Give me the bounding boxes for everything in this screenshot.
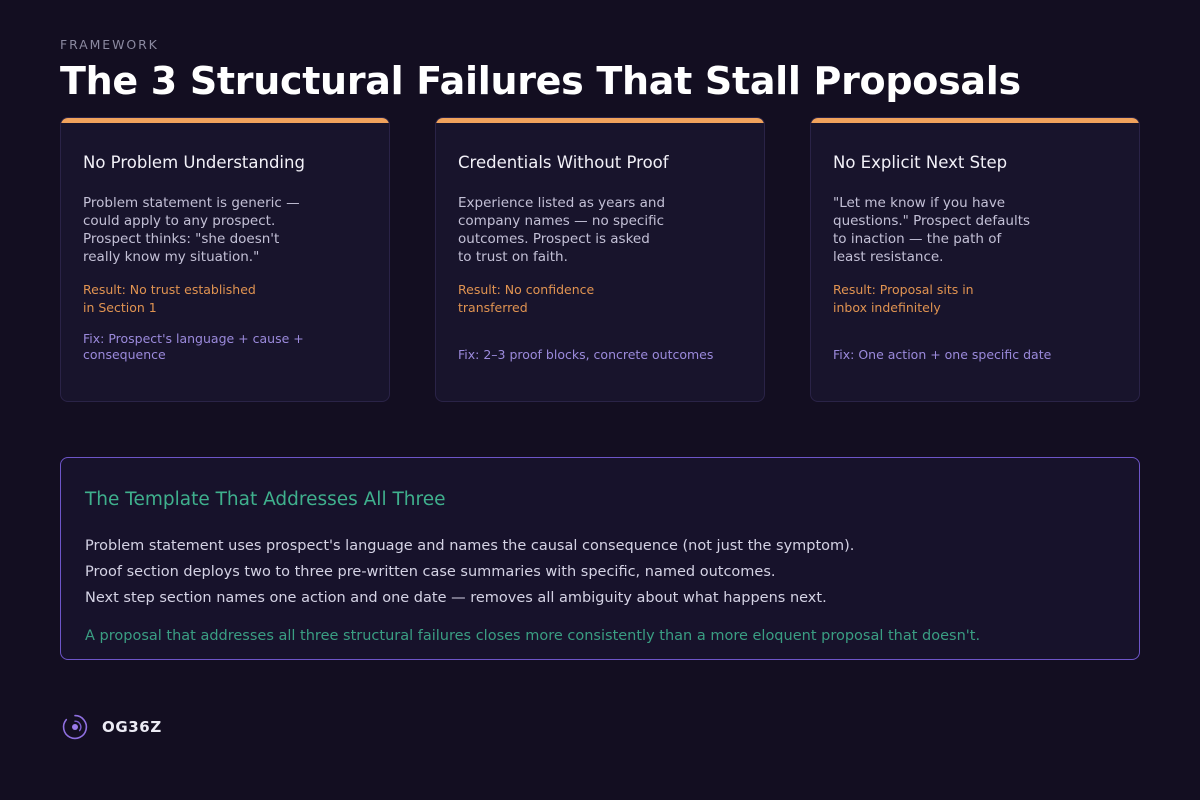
- card-result-line: Result: Proposal sits in: [833, 281, 1117, 299]
- failure-card: No Problem Understanding Problem stateme…: [60, 117, 390, 402]
- card-body-line: could apply to any prospect.: [83, 212, 367, 230]
- card-body-line: outcomes. Prospect is asked: [458, 230, 742, 248]
- brand-name: OG36Z: [102, 718, 162, 736]
- slide-root: FRAMEWORK The 3 Structural Failures That…: [0, 0, 1200, 800]
- template-panel: The Template That Addresses All Three Pr…: [60, 457, 1140, 660]
- card-body-line: really know my situation.": [83, 248, 367, 266]
- panel-line: Problem statement uses prospect's langua…: [85, 533, 1115, 559]
- footer: OG36Z: [60, 712, 162, 742]
- card-accent-bar: [61, 118, 389, 123]
- card-fix: Fix: One action + one specific date: [833, 347, 1051, 363]
- card-body-line: company names — no specific: [458, 212, 742, 230]
- card-body-line: to trust on faith.: [458, 248, 742, 266]
- card-body-line: Problem statement is generic —: [83, 194, 367, 212]
- card-result: Result: No confidence transferred: [458, 281, 742, 317]
- panel-note: A proposal that addresses all three stru…: [85, 625, 1115, 647]
- card-body-line: "Let me know if you have: [833, 194, 1117, 212]
- card-result-line: Result: No confidence: [458, 281, 742, 299]
- card-title: Credentials Without Proof: [458, 152, 742, 174]
- eyebrow-label: FRAMEWORK: [60, 37, 159, 52]
- failure-card: No Explicit Next Step "Let me know if yo…: [810, 117, 1140, 402]
- panel-title: The Template That Addresses All Three: [85, 488, 1115, 512]
- card-body-line: Experience listed as years and: [458, 194, 742, 212]
- circular-orbit-logo-icon: [60, 712, 90, 742]
- card-body-line: Prospect thinks: "she doesn't: [83, 230, 367, 248]
- card-result: Result: Proposal sits in inbox indefinit…: [833, 281, 1117, 317]
- card-accent-bar: [811, 118, 1139, 123]
- card-body: Experience listed as years and company n…: [458, 194, 742, 266]
- panel-line: Next step section names one action and o…: [85, 585, 1115, 611]
- card-body-line: questions." Prospect defaults: [833, 212, 1117, 230]
- card-title: No Problem Understanding: [83, 152, 367, 174]
- card-result-line: Result: No trust established: [83, 281, 367, 299]
- card-result: Result: No trust established in Section …: [83, 281, 367, 317]
- card-accent-bar: [436, 118, 764, 123]
- card-body-line: to inaction — the path of: [833, 230, 1117, 248]
- card-fix: Fix: Prospect's language + cause + conse…: [83, 331, 389, 363]
- panel-line: Proof section deploys two to three pre-w…: [85, 559, 1115, 585]
- failure-cards-row: No Problem Understanding Problem stateme…: [60, 117, 1140, 402]
- card-result-line: in Section 1: [83, 299, 367, 317]
- card-body: "Let me know if you have questions." Pro…: [833, 194, 1117, 266]
- card-body-line: least resistance.: [833, 248, 1117, 266]
- failure-card: Credentials Without Proof Experience lis…: [435, 117, 765, 402]
- page-title: The 3 Structural Failures That Stall Pro…: [60, 59, 1021, 103]
- card-fix: Fix: 2–3 proof blocks, concrete outcomes: [458, 347, 713, 363]
- card-title: No Explicit Next Step: [833, 152, 1117, 174]
- card-result-line: inbox indefinitely: [833, 299, 1117, 317]
- card-result-line: transferred: [458, 299, 742, 317]
- card-body: Problem statement is generic — could app…: [83, 194, 367, 266]
